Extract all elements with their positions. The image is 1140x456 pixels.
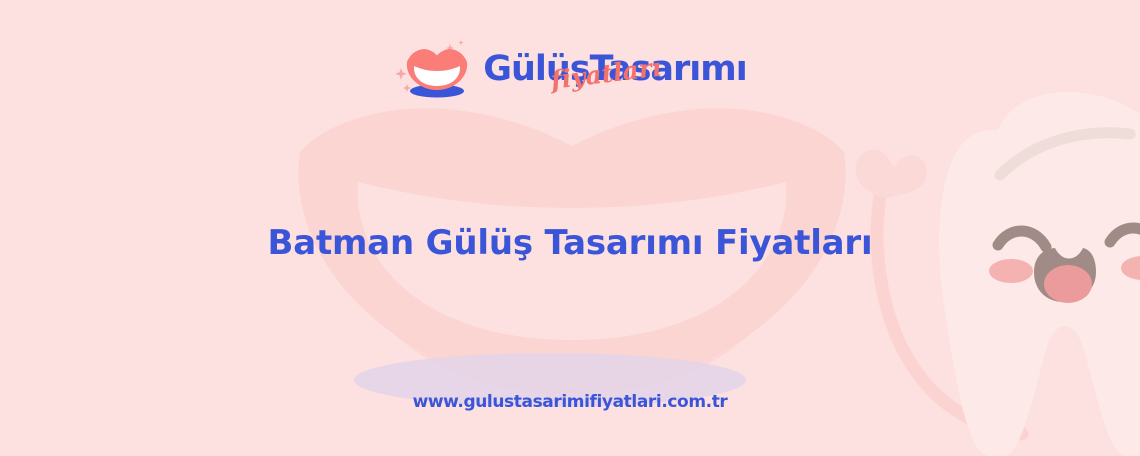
page-title: Batman Gülüş Tasarımı Fiyatları <box>0 222 1140 265</box>
promo-banner: GülüşTasarımı fiyatları Batman Gülüş Tas… <box>0 0 1140 456</box>
tooth-tongue <box>1044 265 1092 303</box>
smiling-lips-logo-icon <box>393 38 481 102</box>
tooth-highlight <box>1000 133 1130 175</box>
heart-balloon-icon <box>856 150 927 198</box>
website-url[interactable]: www.gulustasarimifiyatlari.com.tr <box>0 394 1140 411</box>
site-logo[interactable]: GülüşTasarımı fiyatları <box>0 36 1140 104</box>
